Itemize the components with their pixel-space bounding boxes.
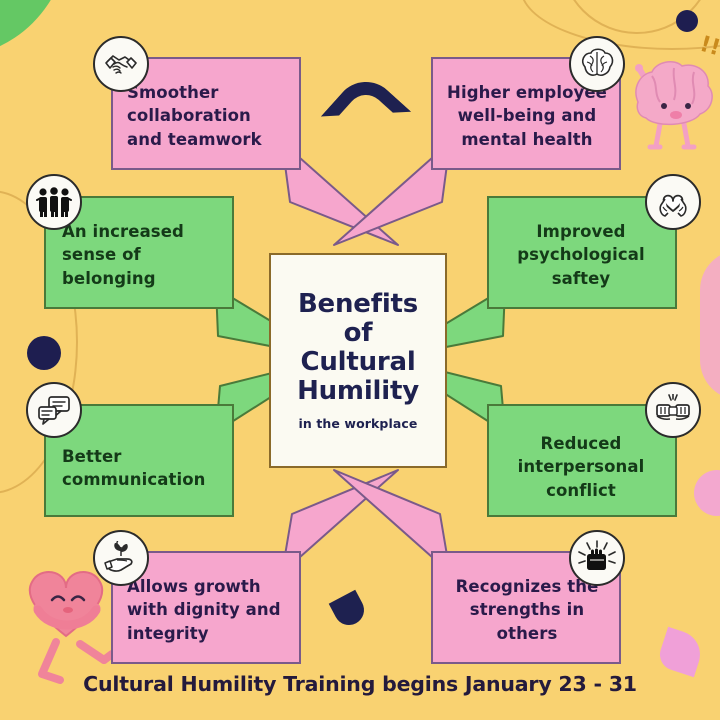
orbit-line-top [520, 0, 720, 50]
center-title-card: Benefits of Cultural Humility in the wor… [269, 253, 447, 468]
raised-fist-icon [569, 530, 625, 586]
pink-strip-shape [700, 250, 720, 400]
bubble-text: Higher employee well-being and mental he… [441, 81, 613, 151]
exclamation-marks: !! [697, 32, 720, 62]
handshake-icon [93, 36, 149, 92]
bubble-text: Reduced interpersonal conflict [495, 432, 667, 502]
center-title: Benefits of Cultural Humility [297, 290, 419, 406]
navy-dot-left [27, 336, 61, 370]
footer-announcement: Cultural Humility Training begins Januar… [0, 672, 720, 696]
pink-wedge-shape [656, 627, 706, 677]
hands-heart-icon [645, 174, 701, 230]
bubble-text: Allows growth with dignity and integrity [127, 575, 297, 645]
three-people-icon [26, 174, 82, 230]
brain-icon [569, 36, 625, 92]
infographic-canvas: !! Benefits of Cultural Humility in the … [0, 0, 720, 720]
bubble-text: Better communication [62, 445, 230, 492]
hand-sprout-icon [93, 530, 149, 586]
bubble-text: An increased sense of belonging [62, 220, 230, 290]
chat-bubbles-icon [26, 382, 82, 438]
green-corner-shape [0, 0, 68, 58]
brain-character [626, 44, 720, 152]
clashing-fists-icon [645, 382, 701, 438]
bubble-text: Smoother collaboration and teamwork [127, 81, 297, 151]
bubble-text: Recognizes the strengths in others [441, 575, 613, 645]
navy-halfmoon-shape [329, 590, 370, 631]
navy-dot-top-right [676, 10, 698, 32]
bubble-text: Improved psychological saftey [495, 220, 667, 290]
orbit-line-top-right [560, 0, 714, 34]
center-subtitle: in the workplace [298, 416, 417, 431]
pink-circle-shape [694, 470, 720, 516]
